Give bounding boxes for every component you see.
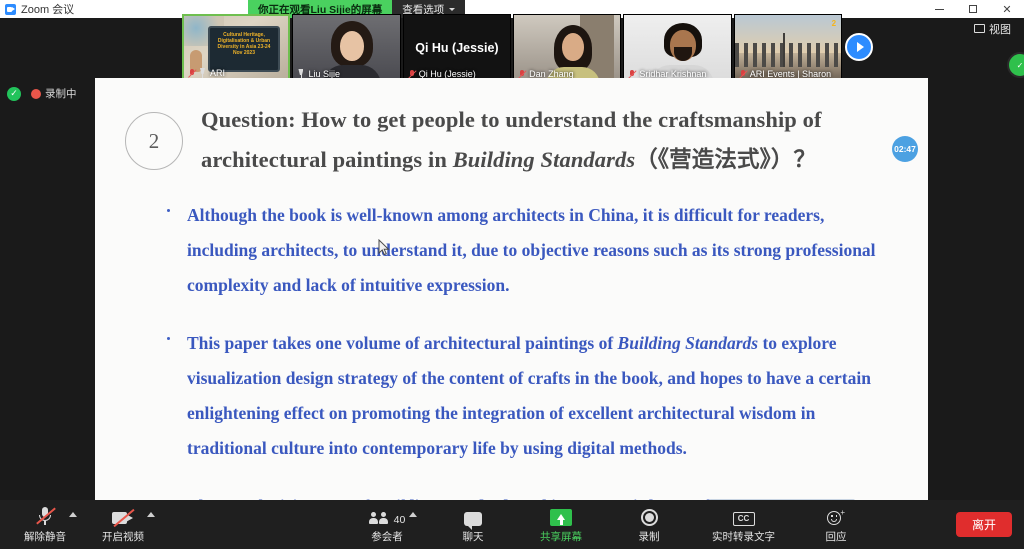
view-button-label: 视图 — [989, 21, 1011, 37]
view-button[interactable]: 视图 — [969, 20, 1016, 37]
speaking-timer-badge: 02:47 — [892, 136, 918, 162]
participant-tile-sridhar-krishnan[interactable]: Sridhar Krishnan — [623, 14, 731, 82]
zoom-logo-icon — [5, 4, 16, 15]
mic-muted-icon — [188, 68, 196, 78]
green-status-icon[interactable]: ✓ — [1007, 52, 1024, 78]
share-screen-button[interactable]: 共享屏幕 — [530, 500, 592, 549]
participant-thumbnail-strip: Cultural Heritage, Digitalisation & Urba… — [182, 14, 842, 82]
close-button[interactable]: ✕ — [990, 0, 1024, 18]
video-options-chevron-icon[interactable] — [147, 512, 155, 517]
bullet-text: Although the book is well-known among ar… — [187, 198, 898, 303]
app-identity: Zoom 会议 — [0, 1, 74, 17]
view-grid-icon — [974, 24, 985, 33]
minimize-button[interactable] — [922, 0, 956, 18]
participant-tile-ari[interactable]: Cultural Heritage, Digitalisation & Urba… — [182, 14, 290, 82]
participant-tile-dan-zhang[interactable]: Dan Zhang — [513, 14, 621, 82]
record-button[interactable]: 录制 — [620, 500, 678, 549]
poster-tablet-text: Cultural Heritage, Digitalisation & Urba… — [214, 32, 274, 66]
pin-icon — [199, 68, 207, 78]
slide-title-line2-pre: architectural paintings in — [201, 147, 453, 172]
reactions-smiley-icon: + — [827, 506, 845, 526]
maximize-icon — [969, 5, 977, 13]
close-icon: ✕ — [1002, 3, 1011, 16]
maximize-button[interactable] — [956, 0, 990, 18]
share-screen-icon — [550, 506, 572, 526]
leave-button[interactable]: 离开 — [956, 512, 1012, 537]
mic-muted-icon — [37, 506, 53, 526]
slide-title-line1: Question: How to get people to understan… — [201, 107, 822, 132]
window-controls: ✕ — [922, 0, 1024, 18]
people-icon: 40 — [369, 506, 406, 526]
participants-options-chevron-icon[interactable] — [409, 512, 417, 517]
list-item: Although the book is well-known among ar… — [167, 198, 898, 303]
participants-button-label: 参会者 — [371, 529, 403, 544]
zoom-meeting-window: Zoom 会议 你正在观看Liu Sijie的屏幕 查看选项 ✕ 视图 Cul — [0, 0, 1024, 549]
participants-button[interactable]: 40 参会者 — [358, 500, 416, 549]
next-participants-button[interactable] — [845, 33, 873, 61]
shared-screen-slide[interactable]: 2 Question: How to get people to underst… — [95, 78, 928, 518]
camera-off-icon — [112, 506, 134, 526]
list-item: This paper takes one volume of architect… — [167, 326, 898, 466]
meeting-toolbar: 解除静音 开启视频 40 参会者 聊天 共享屏幕 — [0, 500, 1024, 549]
record-dot-icon — [31, 89, 41, 99]
recording-indicator[interactable]: 录制中 — [31, 86, 77, 101]
slide-title-italic: Building Standards — [453, 147, 636, 172]
mouse-cursor — [378, 239, 390, 256]
bullet-text-italic: Building Standards — [618, 333, 759, 353]
record-circle-icon — [641, 506, 658, 526]
person-face — [340, 31, 364, 61]
video-button[interactable]: 开启视频 — [92, 500, 154, 549]
slide-title-line2-post: （《营造法式》）？ — [635, 147, 816, 172]
chat-bubble-icon — [464, 506, 482, 526]
participant-tile-qi-hu[interactable]: Qi Hu (Jessie) Qi Hu (Jessie) — [403, 14, 511, 82]
chevron-right-icon — [857, 42, 864, 52]
chat-button-label: 聊天 — [463, 529, 484, 544]
app-title: Zoom 会议 — [21, 1, 74, 17]
bullet-dot-icon — [167, 209, 170, 212]
record-button-label: 录制 — [639, 529, 660, 544]
participant-tile-ari-events-sharon[interactable]: 2 ARI Events | Sharon — [734, 14, 842, 82]
recording-label: 录制中 — [45, 86, 77, 101]
slide-heading: 2 Question: How to get people to underst… — [125, 100, 898, 180]
slide-number-badge: 2 — [125, 112, 183, 170]
meeting-status-row: ✓ 录制中 — [7, 86, 77, 101]
mute-button-label: 解除静音 — [24, 529, 66, 544]
share-screen-label: 共享屏幕 — [540, 529, 582, 544]
slide-bullet-list: Although the book is well-known among ar… — [125, 198, 898, 518]
background-logo: 2 — [832, 19, 836, 28]
mute-button[interactable]: 解除静音 — [14, 500, 76, 549]
chat-button[interactable]: 聊天 — [444, 500, 502, 549]
bullet-text-pre: Although the book is well-known among ar… — [187, 205, 876, 295]
mute-options-chevron-icon[interactable] — [69, 512, 77, 517]
slide-content: 2 Question: How to get people to underst… — [95, 78, 928, 518]
video-button-label: 开启视频 — [102, 529, 144, 544]
participants-count: 40 — [394, 514, 406, 526]
bullet-dot-icon — [167, 337, 170, 340]
bullet-text: This paper takes one volume of architect… — [187, 326, 898, 466]
person-face — [562, 33, 584, 61]
participant-name: ARI — [210, 68, 225, 78]
reactions-button-label: 回应 — [826, 529, 847, 544]
bullet-text-pre: This paper takes one volume of architect… — [187, 333, 618, 353]
chevron-down-icon — [449, 8, 455, 11]
minimize-icon — [935, 9, 944, 10]
background-skyline — [735, 43, 841, 67]
reactions-button[interactable]: + 回应 — [807, 500, 865, 549]
participant-tile-liu-sijie[interactable]: Liu Sijie — [292, 14, 400, 82]
background-tower — [783, 33, 785, 67]
cc-icon: CC — [733, 506, 755, 526]
participant-display-name: Qi Hu (Jessie) — [415, 41, 498, 55]
slide-title: Question: How to get people to understan… — [201, 100, 822, 180]
captions-button-label: 实时转录文字 — [712, 529, 775, 544]
captions-button[interactable]: CC 实时转录文字 — [702, 500, 785, 549]
shield-check-icon[interactable]: ✓ — [7, 87, 21, 101]
